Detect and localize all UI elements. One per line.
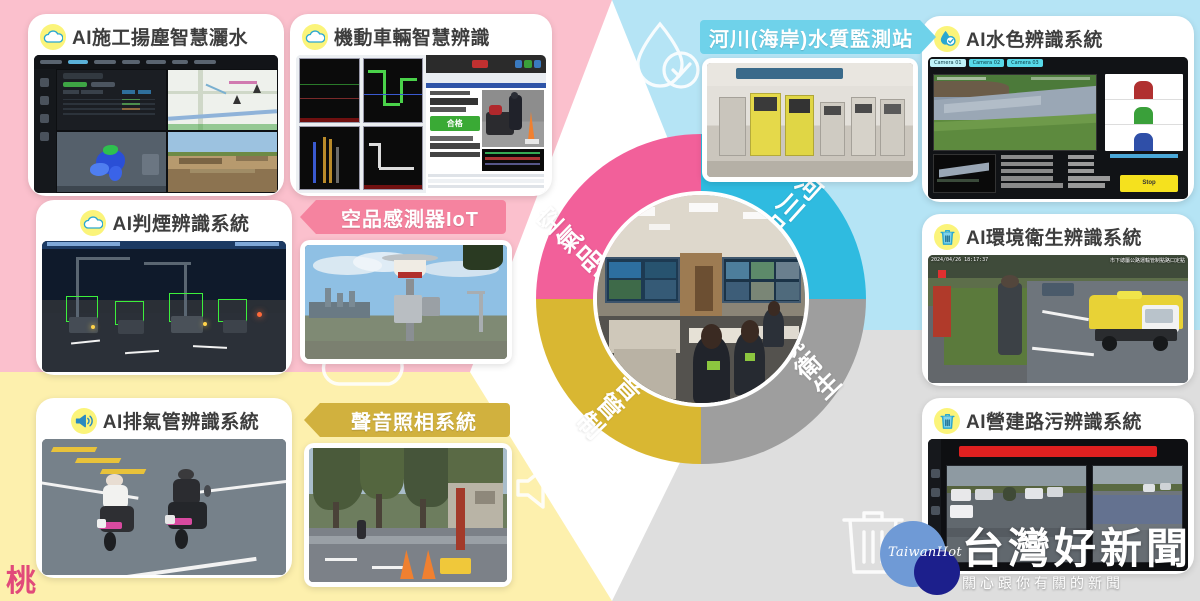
graph-panel-3	[299, 126, 360, 191]
taiwanhot-logo-text: TaiwanHot	[888, 545, 962, 560]
card-title-row: AI判煙辨識系統	[42, 206, 286, 241]
watermark: TaiwanHot 台灣好新聞 關心跟你有關的新聞	[880, 521, 1192, 597]
photo-card-air-sensor[interactable]	[300, 240, 512, 364]
card-title-text: AI環境衛生辨識系統	[966, 223, 1142, 250]
river-video-feed	[933, 74, 1097, 151]
cloud-icon	[302, 24, 328, 50]
histogram-red	[1105, 74, 1183, 100]
watermark-words: 台灣好新聞 關心跟你有關的新聞	[962, 528, 1192, 597]
screenshot-smoke-detection[interactable]	[42, 241, 286, 372]
rgb-histogram-panel	[1105, 74, 1183, 151]
ribbon-sound-camera-system[interactable]: 聲音照相系統	[304, 403, 510, 437]
vehicle-detail-panel: 合格	[426, 55, 546, 193]
card-title-row: AI營建路污辨識系統	[928, 404, 1188, 439]
camera-overlay-note: 市下總屬公路運輸管制點路口定點	[1110, 257, 1185, 264]
card-ai-environmental-hygiene[interactable]: AI環境衛生辨識系統 2024/04/26 18:17:37 市下總屬公路運輸管…	[922, 214, 1194, 386]
card-title-row: AI水色辨識系統	[928, 22, 1188, 57]
screenshot-exhaust-pipe[interactable]	[42, 439, 286, 575]
air-sensor-photo	[305, 245, 507, 359]
trash-icon	[934, 408, 960, 434]
alert-bar	[959, 446, 1157, 458]
speaker-icon	[71, 408, 97, 434]
card-mobile-vehicle-recognition[interactable]: 機動車輛智慧辨識	[290, 14, 552, 196]
control-center-photo	[593, 191, 809, 407]
card-ai-construction-dust[interactable]: AI施工揚塵智慧灑水	[28, 14, 284, 196]
card-title-row: AI環境衛生辨識系統	[928, 220, 1188, 255]
histogram-green	[1105, 100, 1183, 126]
taoyuan-city-mark: 桃	[6, 567, 36, 597]
ribbon-river-water-quality-station[interactable]: 河川(海岸)水質監測站	[700, 20, 936, 54]
camera-timestamp: 2024/04/26 18:17:37	[931, 257, 988, 263]
river-station-photo	[707, 63, 913, 177]
camera-tabs[interactable]: Camera 01 Camera 02 Camera 03	[930, 59, 1043, 67]
screenshot-vehicle-recognition[interactable]: 合格	[296, 55, 546, 193]
tab-camera-01[interactable]: Camera 01	[930, 59, 966, 67]
graph-panel-1	[299, 58, 360, 123]
screenshot-construction-dust[interactable]	[34, 55, 278, 193]
category-donut-chart: 空氣品質 河川品質 環境衛生 噪音管制	[536, 134, 866, 464]
screenshot-water-color[interactable]: Camera 01 Camera 02 Camera 03	[928, 57, 1188, 199]
ribbon-air-sensor-iot[interactable]: 空品感測器IoT	[300, 200, 506, 234]
card-title-row: AI排氣管辨識系統	[42, 404, 286, 439]
sound-camera-photo	[309, 448, 507, 582]
watermark-tagline: 關心跟你有關的新聞	[962, 573, 1124, 593]
tab-camera-03[interactable]: Camera 03	[1007, 59, 1043, 67]
water-drop-search-icon	[934, 26, 960, 52]
card-ai-smoke-detection[interactable]: AI判煙辨識系統	[36, 200, 292, 375]
watermark-title: 台灣好新聞	[962, 528, 1192, 570]
card-title-text: AI營建路污辨識系統	[966, 407, 1142, 434]
processed-preview	[933, 154, 995, 194]
infographic-canvas: 空氣品質 河川品質 環境衛生 噪音管制	[0, 0, 1200, 601]
card-title-text: AI水色辨識系統	[966, 25, 1103, 52]
card-title-text: AI施工揚塵智慧灑水	[72, 23, 248, 50]
stop-button[interactable]: Stop	[1120, 175, 1177, 192]
card-title-row: 機動車輛智慧辨識	[296, 20, 546, 55]
control-center-image	[597, 195, 805, 403]
card-ai-water-color-recognition[interactable]: AI水色辨識系統 Camera 01 Camera 02 Camera 03	[922, 16, 1194, 202]
cloud-icon	[40, 24, 66, 50]
card-title-text: AI排氣管辨識系統	[103, 407, 260, 434]
photo-card-sound-camera[interactable]	[304, 443, 512, 587]
status-badge-pass: 合格	[430, 116, 480, 131]
screenshot-environmental-hygiene[interactable]: 2024/04/26 18:17:37 市下總屬公路運輸管制點路口定點	[928, 255, 1188, 383]
histogram-blue	[1105, 125, 1183, 151]
graph-panel-2	[363, 58, 424, 123]
taiwanhot-logo: TaiwanHot	[880, 521, 956, 597]
tab-camera-02[interactable]: Camera 02	[969, 59, 1005, 67]
photo-card-river-station[interactable]	[702, 58, 918, 182]
card-title-row: AI施工揚塵智慧灑水	[34, 20, 278, 55]
water-drop-check-icon	[630, 18, 704, 100]
cloud-icon	[80, 210, 106, 236]
graph-panel-4	[363, 126, 424, 191]
card-title-text: AI判煙辨識系統	[112, 209, 249, 236]
speaker-outline-icon	[512, 462, 574, 514]
card-ai-exhaust-pipe-recognition[interactable]: AI排氣管辨識系統	[36, 398, 292, 578]
trash-icon	[934, 224, 960, 250]
card-title-text: 機動車輛智慧辨識	[334, 23, 490, 50]
